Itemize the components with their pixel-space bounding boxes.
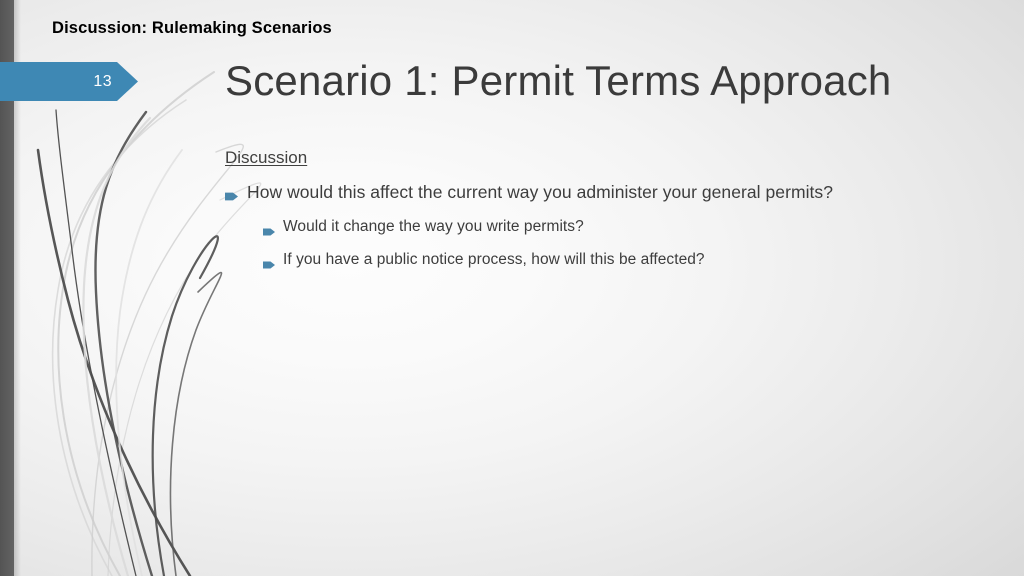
slide-header-title: Discussion: Rulemaking Scenarios — [52, 19, 332, 38]
discussion-label: Discussion — [225, 147, 995, 169]
slide-body: Discussion How would this affect the cur… — [225, 147, 995, 283]
pennant-bullet-icon — [263, 256, 275, 274]
slide-title: Scenario 1: Permit Terms Approach — [225, 55, 985, 107]
slide-canvas: Discussion: Rulemaking Scenarios 13 Scen… — [0, 0, 1024, 576]
bullet-text: Would it change the way you write permit… — [283, 217, 584, 237]
bullet-text: How would this affect the current way yo… — [247, 181, 833, 203]
pennant-bullet-icon — [263, 223, 275, 241]
bullet-text: If you have a public notice process, how… — [283, 250, 705, 270]
page-number-label: 13 — [0, 62, 112, 101]
bullet-item: How would this affect the current way yo… — [225, 181, 995, 206]
bullet-item: If you have a public notice process, how… — [263, 250, 995, 274]
page-number-banner: 13 — [0, 62, 138, 101]
pennant-bullet-icon — [225, 188, 238, 206]
bullet-item: Would it change the way you write permit… — [263, 217, 995, 241]
